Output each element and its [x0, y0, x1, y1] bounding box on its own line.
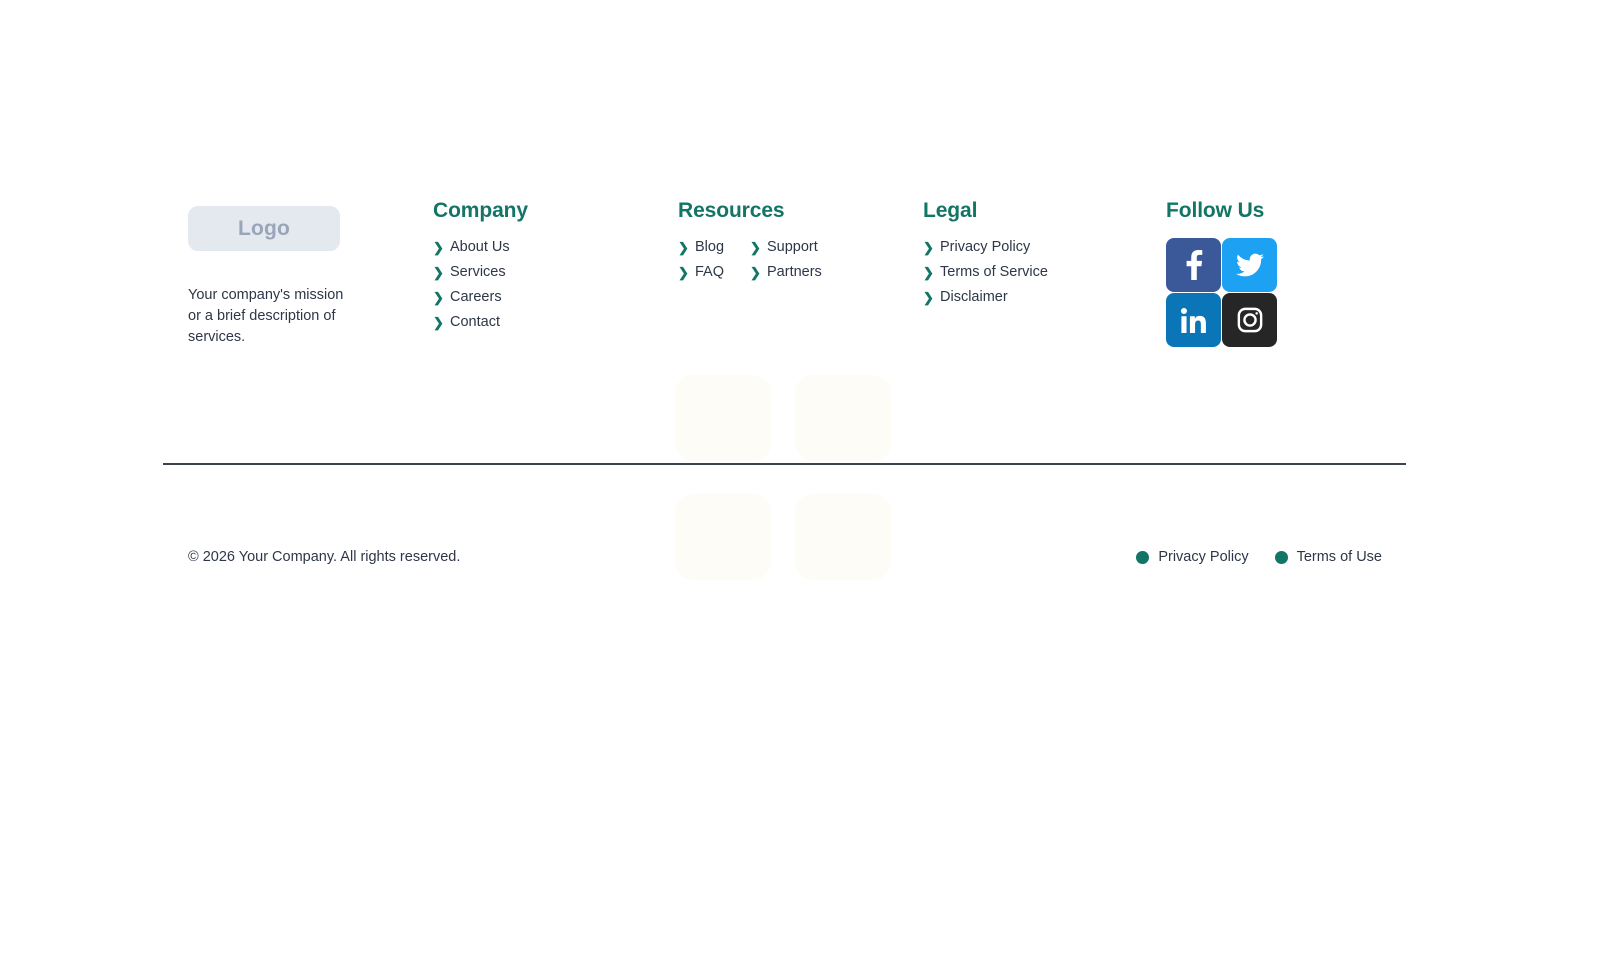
list-item[interactable]: ❯ Services	[433, 263, 678, 281]
dot-icon	[1136, 551, 1149, 564]
social-link-facebook[interactable]	[1166, 238, 1221, 292]
list-item[interactable]: ❯ Contact	[433, 313, 678, 331]
social-link-instagram[interactable]	[1222, 293, 1277, 347]
footer-link-support[interactable]: Support	[767, 238, 818, 256]
resources-subcolumns: ❯ Blog ❯ FAQ ❯ Support	[678, 238, 923, 288]
chevron-right-icon: ❯	[750, 266, 759, 279]
footer-link-terms-of-service[interactable]: Terms of Service	[940, 263, 1048, 281]
chevron-right-icon: ❯	[750, 241, 759, 254]
list-item[interactable]: ❯ Privacy Policy	[923, 238, 1166, 256]
linkedin-icon	[1181, 308, 1206, 333]
footer-link-blog[interactable]: Blog	[695, 238, 724, 256]
dot-icon	[1275, 551, 1288, 564]
chevron-right-icon: ❯	[433, 291, 442, 304]
brand-tagline: Your company's mission or a brief descri…	[188, 285, 360, 348]
chevron-right-icon: ❯	[433, 241, 442, 254]
chevron-right-icon: ❯	[923, 291, 932, 304]
chevron-right-icon: ❯	[923, 266, 932, 279]
footer-bottom-links: Privacy Policy Terms of Use	[1136, 549, 1382, 565]
facebook-icon	[1183, 250, 1205, 280]
list-item[interactable]: ❯ Terms of Service	[923, 263, 1166, 281]
logo-text: Logo	[238, 217, 290, 241]
list-item[interactable]: ❯ FAQ	[678, 263, 750, 281]
chevron-right-icon: ❯	[433, 266, 442, 279]
link-list-company: ❯ About Us ❯ Services ❯ Careers ❯ Contac…	[433, 238, 678, 331]
decorative-block	[795, 494, 891, 580]
social-link-linkedin[interactable]	[1166, 293, 1221, 347]
footer-link-disclaimer[interactable]: Disclaimer	[940, 288, 1008, 306]
footer-link-services[interactable]: Services	[450, 263, 506, 281]
list-item[interactable]: ❯ Careers	[433, 288, 678, 306]
bottom-link-privacy-policy[interactable]: Privacy Policy	[1136, 549, 1248, 565]
footer-brand-column: Logo Your company's mission or a brief d…	[188, 200, 433, 348]
footer-column-social: Follow Us	[1166, 200, 1410, 347]
footer-link-careers[interactable]: Careers	[450, 288, 502, 306]
social-links-grid	[1166, 238, 1410, 347]
column-heading-legal: Legal	[923, 200, 1166, 221]
instagram-icon	[1237, 307, 1263, 333]
logo-placeholder[interactable]: Logo	[188, 206, 340, 251]
footer-link-contact[interactable]: Contact	[450, 313, 500, 331]
column-heading-company: Company	[433, 200, 678, 221]
chevron-right-icon: ❯	[678, 266, 687, 279]
decorative-block	[675, 494, 771, 580]
social-link-twitter[interactable]	[1222, 238, 1277, 292]
list-item[interactable]: ❯ Support	[750, 238, 900, 256]
decorative-block	[795, 375, 891, 461]
copyright-text: © 2026 Your Company. All rights reserved…	[188, 549, 460, 565]
link-list-resources-a: ❯ Blog ❯ FAQ	[678, 238, 750, 288]
footer-divider	[163, 463, 1406, 465]
decorative-blocks-layer	[0, 0, 1600, 978]
chevron-right-icon: ❯	[923, 241, 932, 254]
link-list-resources-b: ❯ Support ❯ Partners	[750, 238, 900, 288]
column-heading-resources: Resources	[678, 200, 923, 221]
list-item[interactable]: ❯ Partners	[750, 263, 900, 281]
footer-column-legal: Legal ❯ Privacy Policy ❯ Terms of Servic…	[923, 200, 1166, 313]
footer-link-partners[interactable]: Partners	[767, 263, 822, 281]
footer-link-faq[interactable]: FAQ	[695, 263, 724, 281]
bottom-link-label: Terms of Use	[1297, 549, 1382, 565]
list-item[interactable]: ❯ Disclaimer	[923, 288, 1166, 306]
bottom-link-terms-of-use[interactable]: Terms of Use	[1275, 549, 1382, 565]
decorative-block	[675, 375, 771, 461]
column-heading-follow-us: Follow Us	[1166, 200, 1410, 221]
chevron-right-icon: ❯	[433, 316, 442, 329]
twitter-icon	[1236, 253, 1264, 277]
footer-page: Logo Your company's mission or a brief d…	[0, 0, 1600, 978]
footer-link-privacy-policy[interactable]: Privacy Policy	[940, 238, 1030, 256]
list-item[interactable]: ❯ Blog	[678, 238, 750, 256]
footer-bottom-bar: © 2026 Your Company. All rights reserved…	[188, 549, 1382, 565]
chevron-right-icon: ❯	[678, 241, 687, 254]
footer-link-about-us[interactable]: About Us	[450, 238, 510, 256]
footer-columns: Logo Your company's mission or a brief d…	[188, 200, 1410, 348]
footer-column-company: Company ❯ About Us ❯ Services ❯ Careers	[433, 200, 678, 338]
list-item[interactable]: ❯ About Us	[433, 238, 678, 256]
bottom-link-label: Privacy Policy	[1158, 549, 1248, 565]
link-list-legal: ❯ Privacy Policy ❯ Terms of Service ❯ Di…	[923, 238, 1166, 306]
footer-column-resources: Resources ❯ Blog ❯ FAQ	[678, 200, 923, 288]
